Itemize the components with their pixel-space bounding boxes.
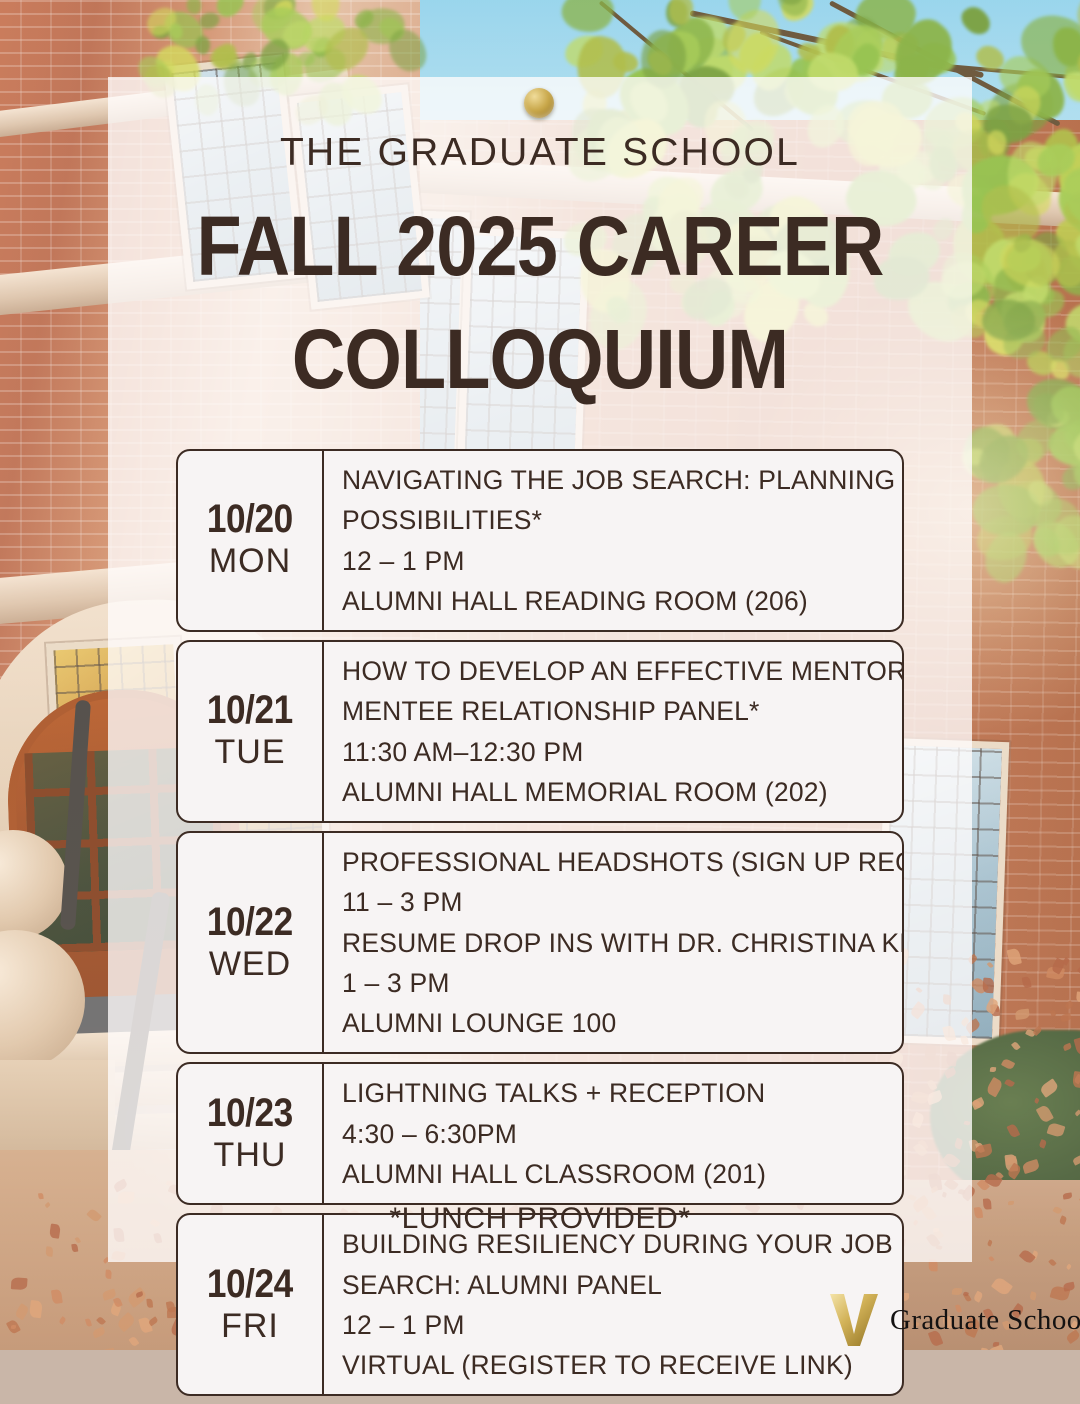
schedule-row-detail-line: ALUMNI HALL READING ROOM (206) (342, 581, 904, 621)
schedule-row-details: LIGHTNING TALKS + RECEPTION4:30 – 6:30PM… (324, 1064, 902, 1203)
schedule-row-detail-line: SEARCH: ALUMNI PANEL (342, 1265, 902, 1305)
schedule-row-daycell: 10/21TUE (178, 642, 324, 821)
schedule-row-detail-line: MENTEE RELATIONSHIP PANEL* (342, 691, 904, 731)
schedule-row-daycell: 10/22WED (178, 833, 324, 1052)
vanderbilt-v-icon (828, 1292, 880, 1348)
schedule-row-detail-line: ALUMNI HALL MEMORIAL ROOM (202) (342, 772, 904, 812)
schedule-row-details: NAVIGATING THE JOB SEARCH: PLANNING FORP… (324, 451, 904, 630)
schedule-row-date: 10/22 (207, 901, 293, 943)
schedule-row-date: 10/20 (207, 498, 293, 540)
schedule-row-detail-line: HOW TO DEVELOP AN EFFECTIVE MENTOR- (342, 651, 904, 691)
schedule-row-detail-line: ALUMNI HALL CLASSROOM (201) (342, 1154, 902, 1194)
schedule-row: 10/23THULIGHTNING TALKS + RECEPTION4:30 … (176, 1062, 904, 1205)
schedule-row: 10/21TUEHOW TO DEVELOP AN EFFECTIVE MENT… (176, 640, 904, 823)
schedule-row-daycell: 10/20MON (178, 451, 324, 630)
page-title: FALL 2025 CAREER COLLOQUIUM (160, 190, 920, 415)
schedule-row-weekday: FRI (221, 1305, 279, 1348)
schedule-row-detail-line: POSSIBILITIES* (342, 500, 904, 540)
schedule-row-daycell: 10/23THU (178, 1064, 324, 1203)
schedule-row-detail-line: 12 – 1 PM (342, 1305, 902, 1345)
schedule-list: 10/20MONNAVIGATING THE JOB SEARCH: PLANN… (176, 449, 904, 1404)
schedule-row-detail-line: LIGHTNING TALKS + RECEPTION (342, 1073, 902, 1113)
schedule-row-weekday: MON (209, 540, 291, 583)
schedule-row: 10/22WEDPROFESSIONAL HEADSHOTS (SIGN UP … (176, 831, 904, 1054)
schedule-row-detail-line: RESUME DROP INS WITH DR. CHRISTINA KEETO… (342, 923, 904, 963)
schedule-row-date: 10/24 (207, 1263, 293, 1305)
schedule-row-detail-line: 1 – 3 PM (342, 963, 904, 1003)
schedule-row-weekday: THU (214, 1134, 287, 1177)
schedule-row-detail-line: NAVIGATING THE JOB SEARCH: PLANNING FOR (342, 460, 904, 500)
vanderbilt-graduate-school-logo: Graduate School (828, 1292, 1080, 1348)
logo-wordmark: Graduate School (890, 1304, 1080, 1337)
schedule-row-detail-line: 12 – 1 PM (342, 541, 904, 581)
schedule-row: 10/24FRIBUILDING RESILIENCY DURING YOUR … (176, 1213, 904, 1396)
schedule-row-details: HOW TO DEVELOP AN EFFECTIVE MENTOR-MENTE… (324, 642, 904, 821)
schedule-row-detail-line: ALUMNI LOUNGE 100 (342, 1003, 904, 1043)
page-title-line-2: COLLOQUIUM (160, 303, 920, 416)
schedule-row-detail-line: 11:30 AM–12:30 PM (342, 732, 904, 772)
schedule-row-weekday: TUE (215, 731, 286, 774)
gold-brad-icon (524, 88, 554, 118)
footnote: *LUNCH PROVIDED* (108, 1202, 972, 1236)
schedule-row: 10/20MONNAVIGATING THE JOB SEARCH: PLANN… (176, 449, 904, 632)
schedule-row-details: PROFESSIONAL HEADSHOTS (SIGN UP REQUIRED… (324, 833, 904, 1052)
schedule-row-weekday: WED (209, 943, 291, 986)
schedule-row-details: BUILDING RESILIENCY DURING YOUR JOBSEARC… (324, 1215, 902, 1394)
schedule-row-daycell: 10/24FRI (178, 1215, 324, 1394)
schedule-row-date: 10/21 (207, 689, 293, 731)
schedule-row-detail-line: 4:30 – 6:30PM (342, 1114, 902, 1154)
page-title-line-1: FALL 2025 CAREER (160, 190, 920, 303)
page-kicker: THE GRADUATE SCHOOL (108, 131, 972, 175)
schedule-row-detail-line: 11 – 3 PM (342, 882, 904, 922)
schedule-row-date: 10/23 (207, 1092, 293, 1134)
schedule-row-detail-line: PROFESSIONAL HEADSHOTS (SIGN UP REQUIRED… (342, 842, 904, 882)
schedule-row-detail-line: VIRTUAL (REGISTER TO RECEIVE LINK) (342, 1345, 902, 1385)
